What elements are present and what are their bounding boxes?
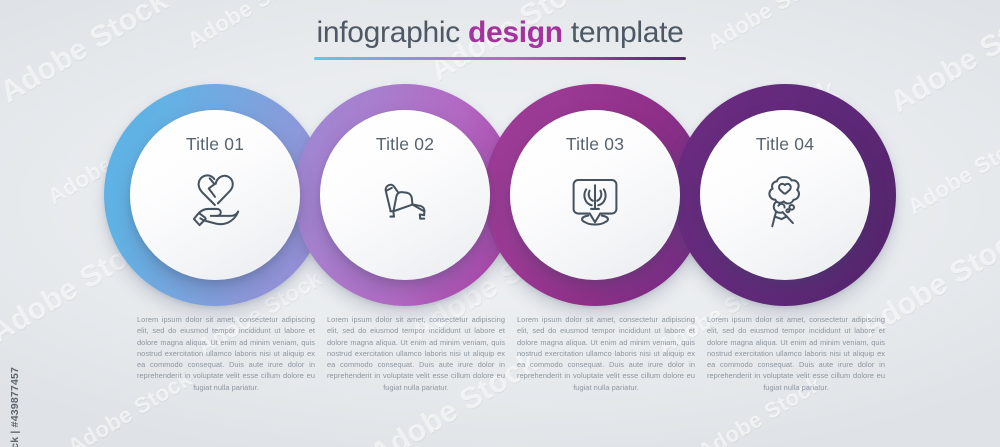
stock-id-strip: Adobe Stock | #439877457 — [2, 0, 28, 447]
title-word-template: template — [563, 16, 684, 49]
descriptions-row: Lorem ipsum dolor sit amet, consectetur … — [0, 314, 1000, 434]
chaise-lounge-couch-icon — [368, 165, 442, 239]
step-node-4[interactable]: Title 04 — [674, 84, 896, 306]
step-description-2: Lorem ipsum dolor sit amet, consectetur … — [327, 314, 505, 393]
page-title: infographic design template — [0, 18, 1000, 48]
step-description-3: Lorem ipsum dolor sit amet, consectetur … — [517, 314, 695, 393]
person-thought-cloud-heart-icon — [748, 165, 822, 239]
infographic-canvas: Adobe Stock Adobe Stock Adobe Stock Adob… — [0, 0, 1000, 447]
step-node-3[interactable]: Title 03 — [484, 84, 706, 306]
step-title-2: Title 02 — [376, 134, 434, 155]
step-title-3: Title 03 — [566, 134, 624, 155]
steps-row: Title 01 Title 0 — [0, 84, 1000, 306]
step-disc-2[interactable]: Title 02 — [320, 110, 490, 280]
step-description-1: Lorem ipsum dolor sit amet, consectetur … — [137, 314, 315, 393]
step-title-4: Title 04 — [756, 134, 814, 155]
step-description-4: Lorem ipsum dolor sit amet, consectetur … — [707, 314, 885, 393]
step-node-1[interactable]: Title 01 — [104, 84, 326, 306]
step-disc-4[interactable]: Title 04 — [700, 110, 870, 280]
header: infographic design template — [0, 18, 1000, 60]
step-title-1: Title 01 — [186, 134, 244, 155]
broken-heart-in-hand-icon — [178, 165, 252, 239]
title-word-design: design — [468, 16, 563, 49]
step-disc-1[interactable]: Title 01 — [130, 110, 300, 280]
title-underline-rule — [314, 57, 686, 60]
step-node-2[interactable]: Title 02 — [294, 84, 516, 306]
step-disc-3[interactable]: Title 03 — [510, 110, 680, 280]
title-word-infographic: infographic — [316, 16, 468, 49]
stock-id-text: Adobe Stock | #439877457 — [9, 367, 21, 447]
psi-symbol-speech-pin-icon — [558, 165, 632, 239]
